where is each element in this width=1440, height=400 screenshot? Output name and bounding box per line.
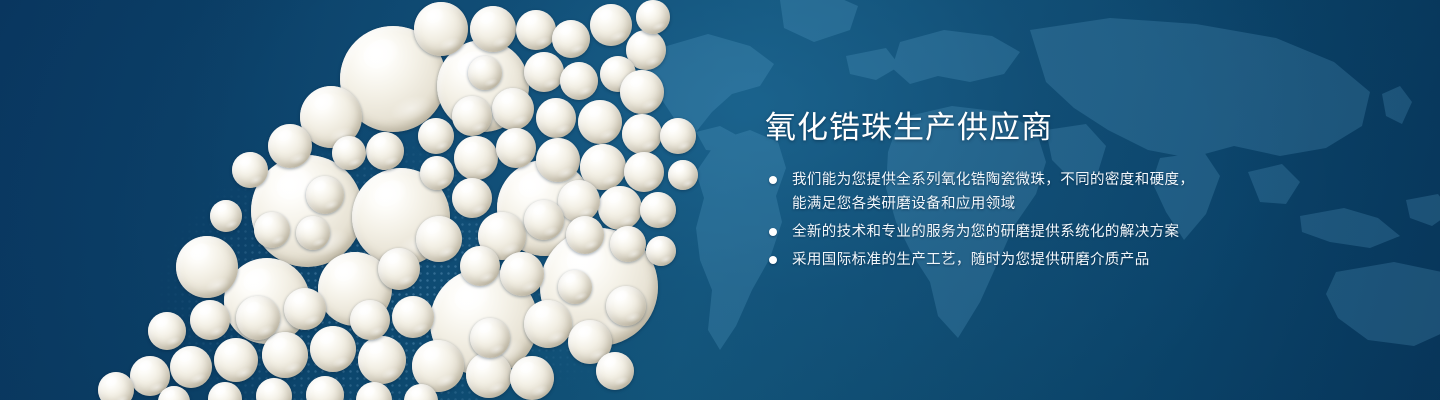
list-item: 采用国际标准的生产工艺，随时为您提供研磨介质产品 [767,248,1237,272]
list-item-line2: 能满足您各类研磨设备和应用领域 [792,192,1237,216]
bullet-dot-icon [769,176,777,184]
bullet-dot-icon [769,256,777,264]
page-title: 氧化锆珠生产供应商 [765,108,1053,148]
list-item: 全新的技术和专业的服务为您的研磨提供系统化的解决方案 [767,220,1237,244]
feature-list: 我们能为您提供全系列氧化锆陶瓷微珠，不同的密度和硬度， 能满足您各类研磨设备和应… [767,168,1237,276]
bullet-dot-icon [769,228,777,236]
list-item-line1: 全新的技术和专业的服务为您的研磨提供系统化的解决方案 [792,224,1179,240]
hero-banner: 氧化锆珠生产供应商 我们能为您提供全系列氧化锆陶瓷微珠，不同的密度和硬度， 能满… [0,0,1440,400]
list-item: 我们能为您提供全系列氧化锆陶瓷微珠，不同的密度和硬度， 能满足您各类研磨设备和应… [767,168,1237,216]
banner-text-content: 氧化锆珠生产供应商 我们能为您提供全系列氧化锆陶瓷微珠，不同的密度和硬度， 能满… [765,0,1405,400]
list-item-line1: 采用国际标准的生产工艺，随时为您提供研磨介质产品 [792,252,1150,268]
list-item-line1: 我们能为您提供全系列氧化锆陶瓷微珠，不同的密度和硬度， [792,172,1194,188]
